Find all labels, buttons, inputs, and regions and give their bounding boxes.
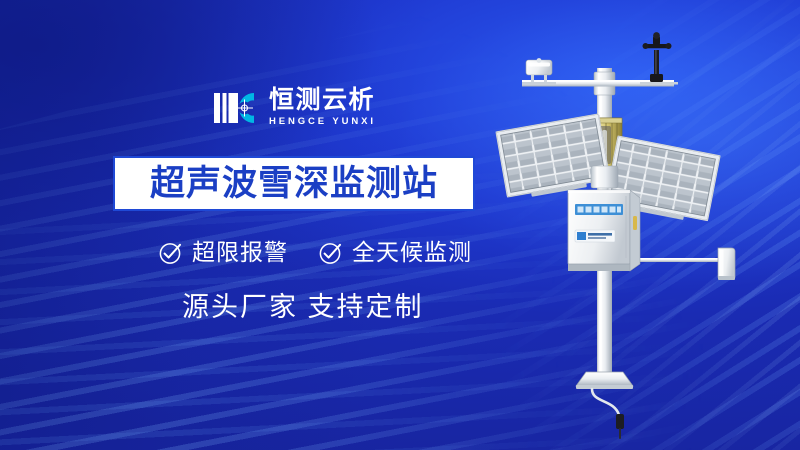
headline-banner: 超声波雪深监测站	[113, 156, 475, 211]
feature-item-1: 超限报警	[158, 240, 288, 265]
check-circle-icon	[158, 240, 183, 265]
headline-text: 超声波雪深监测站	[150, 166, 438, 201]
panel-mount-collar	[591, 166, 618, 188]
promo-banner: 恒测云析 HENGCE YUNXI 超声波雪深监测站 超限报警	[0, 0, 800, 450]
ground-cable	[592, 389, 619, 415]
check-circle-icon	[318, 240, 343, 265]
brand-name-en: HENGCE YUNXI	[269, 116, 376, 128]
feature-label-1: 超限报警	[192, 241, 288, 264]
feature-label-2: 全天候监测	[352, 241, 472, 264]
feature-list: 超限报警 全天候监测	[158, 240, 472, 265]
control-cabinet	[568, 190, 640, 271]
brand-logo: 恒测云析 HENGCE YUNXI	[214, 88, 376, 128]
brand-logo-text: 恒测云析 HENGCE YUNXI	[269, 88, 376, 128]
tagline: 源头厂家 支持定制	[182, 294, 424, 321]
wind-sensor	[640, 32, 678, 84]
base-plate	[576, 372, 633, 389]
hc-monogram-icon	[214, 91, 260, 125]
product-illustration	[490, 20, 800, 440]
cable-connector	[616, 414, 624, 429]
brand-name-cn: 恒测云析	[269, 88, 376, 114]
feature-item-2: 全天候监测	[318, 240, 472, 265]
content-column: 恒测云析 HENGCE YUNXI 超声波雪深监测站 超限报警	[0, 0, 500, 450]
